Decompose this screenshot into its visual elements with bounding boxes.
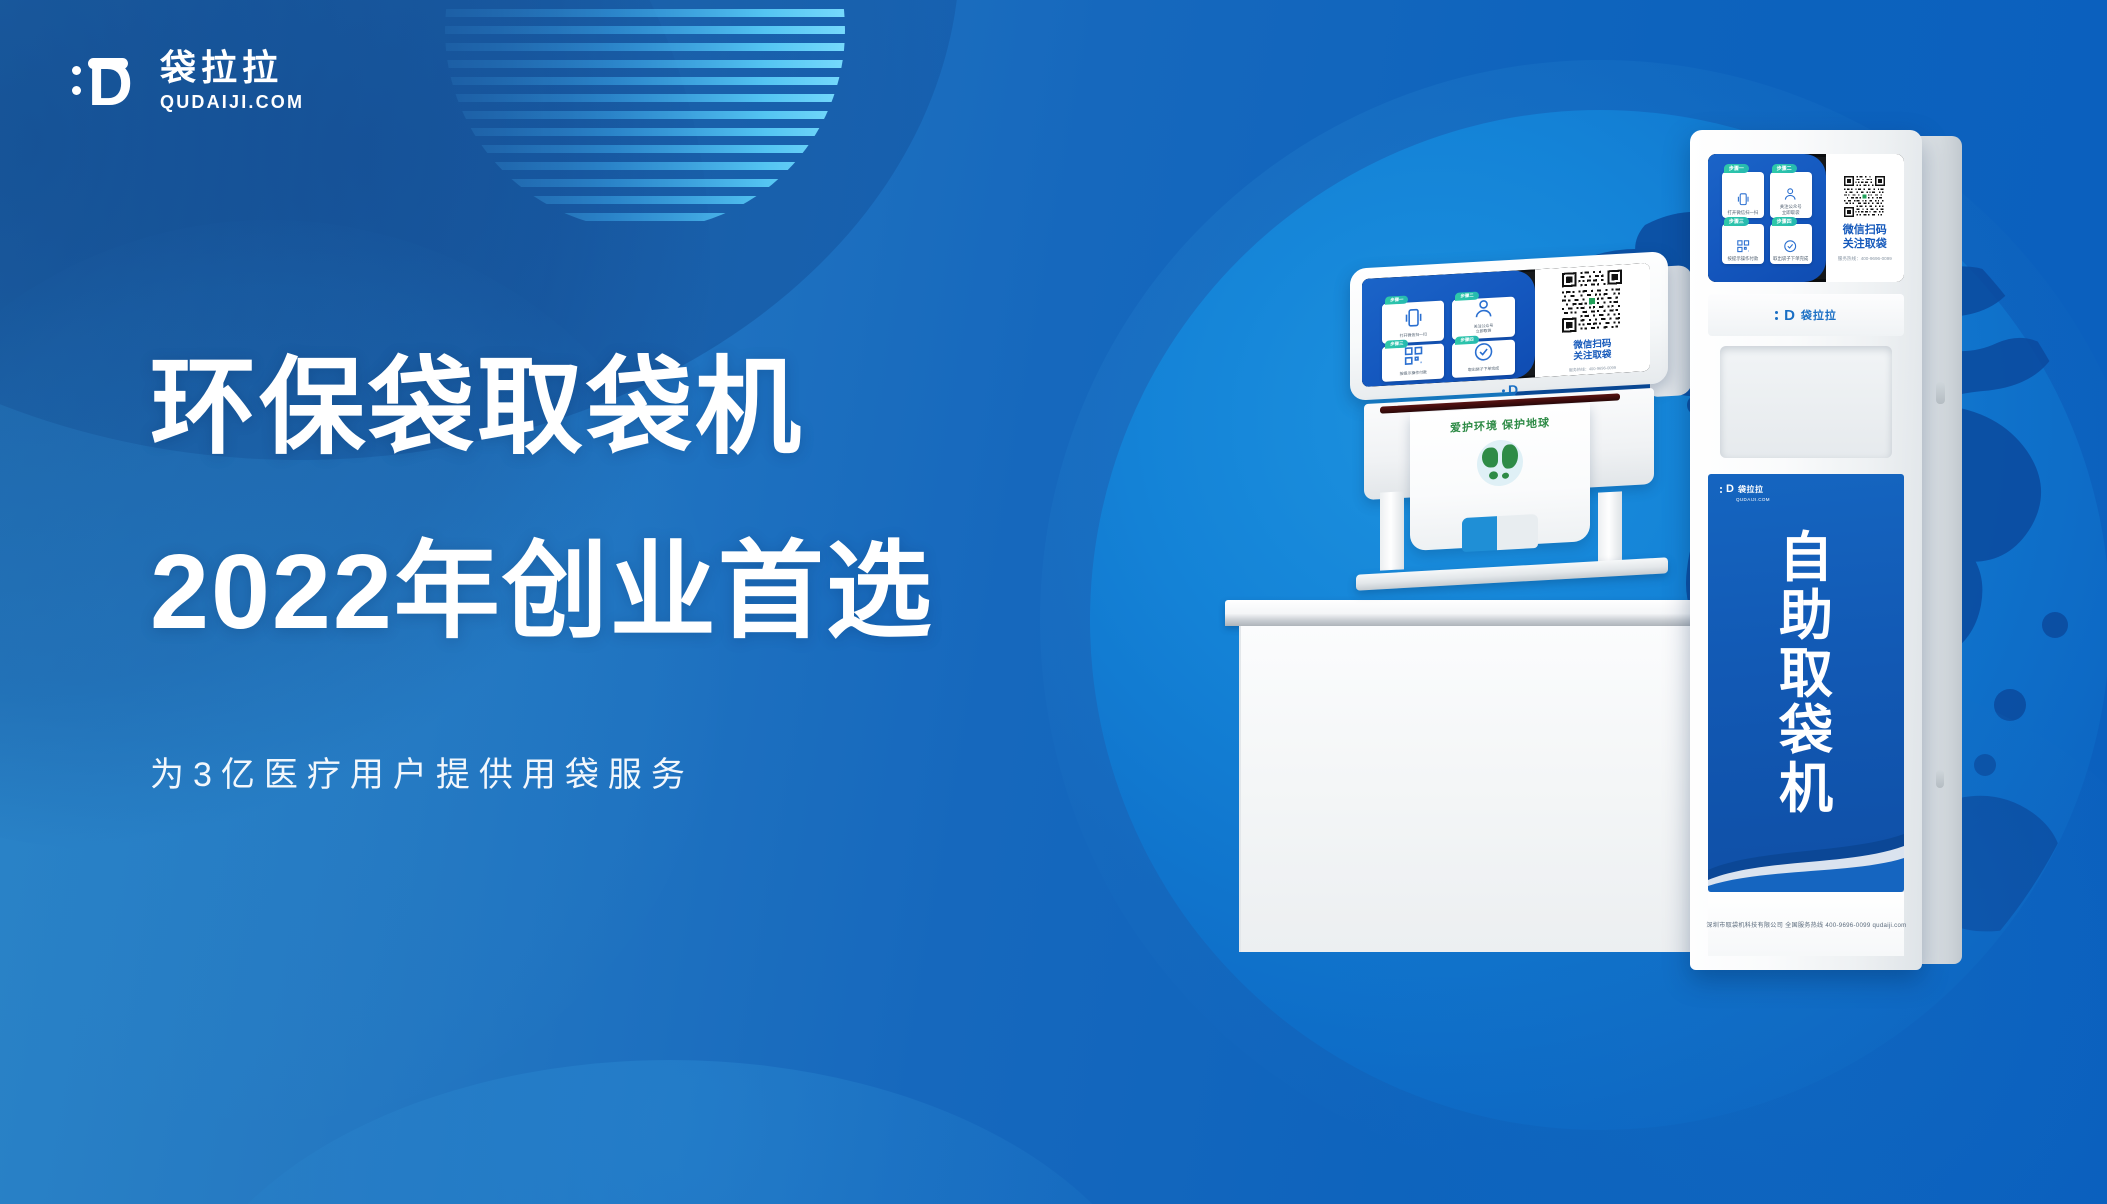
- background-circle-bottom: [170, 1060, 1170, 1204]
- logo-text-block: 袋拉拉 QUDAIJI.COM: [160, 48, 304, 113]
- step-card[interactable]: 步骤二 关注公众号 立即取袋: [1452, 296, 1514, 339]
- step-card[interactable]: 步骤四 取出袋子下单完成: [1452, 339, 1514, 377]
- kiosk-title-char: 袋: [1779, 703, 1833, 761]
- step-badge: 步骤四: [1772, 217, 1797, 226]
- brand-dots-icon: [1775, 311, 1778, 320]
- brand-dots-icon: [1720, 487, 1722, 493]
- wechat-follow-icon: [1473, 298, 1494, 320]
- step-caption: 按提示操作付款: [1728, 256, 1759, 262]
- step-card[interactable]: 步骤一 打开微信扫一扫: [1722, 172, 1764, 218]
- screen-cta-line2: 关注取袋: [1573, 350, 1611, 363]
- stand-leg-left: [1380, 491, 1404, 570]
- kiosk-screen[interactable]: 步骤一 打开微信扫一扫 步骤二 关注公众号 立即取袋: [1708, 154, 1904, 282]
- step-caption: 关注公众号 立即取袋: [1474, 324, 1493, 335]
- phone-scan-icon: [1403, 306, 1424, 328]
- brand-letter: D: [1726, 484, 1734, 495]
- hero-copy: 环保袋取袋机 2022年创业首选 为3亿医疗用户提供用袋服务: [150, 355, 934, 796]
- step-badge: 步骤一: [1385, 296, 1408, 305]
- kiosk-graphic-panel: D 袋拉拉 QUDAIJI.COM 自 助 取 袋 机: [1708, 474, 1904, 892]
- logo-name-en: QUDAIJI.COM: [160, 91, 304, 113]
- kiosk-panel-logo: D 袋拉拉 QUDAIJI.COM: [1720, 484, 1763, 495]
- logo-mark-icon: D: [72, 50, 138, 112]
- brand-name-cn: 袋拉拉: [1801, 307, 1837, 323]
- brand-dot: [1502, 389, 1505, 392]
- promo-banner: D 袋拉拉 QUDAIJI.COM 环保袋取袋机 2022年创业首选 为3亿医疗…: [0, 0, 2107, 1204]
- logo-dot-top: [72, 66, 81, 75]
- step-caption: 打开微信扫一扫: [1400, 332, 1427, 338]
- screen-cta: 微信扫码 关注取袋: [1843, 224, 1887, 251]
- kiosk-sensor-upper: [1936, 382, 1945, 404]
- kiosk-title-char: 取: [1779, 646, 1833, 704]
- kiosk-title-char: 自: [1779, 530, 1833, 588]
- step-caption: 按提示操作付款: [1400, 370, 1427, 376]
- service-phone: 服务热线：400-9696-0099: [1838, 256, 1892, 262]
- kiosk-title-char: 机: [1779, 761, 1833, 819]
- kiosk-panel-wave: [1708, 824, 1904, 892]
- brand-letter: D: [1784, 308, 1795, 323]
- brand-logo[interactable]: D 袋拉拉 QUDAIJI.COM: [72, 48, 304, 113]
- step-card[interactable]: 步骤二 关注公众号 立即取袋: [1770, 172, 1812, 218]
- screen-cta-line1: 微信扫码: [1843, 224, 1887, 236]
- qr-pay-icon: [1403, 344, 1424, 366]
- step-card[interactable]: 步骤一 打开微信扫一扫: [1382, 300, 1444, 343]
- desktop-dispenser-unit[interactable]: 步骤一 打开微信扫一扫 步骤二 关注公众号 立即取袋: [1350, 260, 1680, 620]
- kiosk-sensor-lower: [1936, 770, 1944, 788]
- bag-label: 爱护环境 保护地球: [1450, 414, 1550, 436]
- step-caption: 取出袋子下单完成: [1773, 256, 1808, 262]
- screen-steps-panel: 步骤一 打开微信扫一扫 步骤二 关注公众号 立即取袋: [1362, 269, 1535, 387]
- headline-line-1: 环保袋取袋机: [150, 355, 934, 461]
- step-badge: 步骤四: [1455, 336, 1478, 345]
- screen-qr-panel: 微信扫码 关注取袋 服务热线：400-9696-0099: [1535, 263, 1650, 377]
- bag-handle: [1462, 514, 1538, 552]
- product-scene: 步骤一 打开微信扫一扫 步骤二 关注公众号 立即取袋: [1150, 110, 2090, 1110]
- logo-name-cn: 袋拉拉: [160, 48, 304, 88]
- logo-dot-bottom: [72, 86, 81, 95]
- screen-cta-line2: 关注取袋: [1843, 238, 1887, 250]
- logo-letter: D: [88, 58, 133, 112]
- step-badge: 步骤二: [1772, 164, 1797, 173]
- step-caption: 关注公众号 立即取袋: [1780, 204, 1802, 215]
- bag-out-icon: [1783, 239, 1797, 253]
- qr-code[interactable]: [1559, 266, 1626, 337]
- step-caption: 打开微信扫一扫: [1728, 210, 1759, 216]
- kiosk-panel-title: 自 助 取 袋 机: [1708, 530, 1904, 819]
- kiosk-footer-text: 深圳市取袋机科技有限公司 全国服务热线 400-9696-0099 qudaij…: [1706, 919, 1906, 928]
- phone-scan-icon: [1736, 192, 1750, 206]
- step-card[interactable]: 步骤三 按提示操作付款: [1722, 224, 1764, 265]
- step-badge: 步骤二: [1455, 292, 1478, 301]
- service-phone: 服务热线：400-9696-0099: [1569, 365, 1616, 374]
- step-caption: 取出袋子下单完成: [1468, 366, 1499, 373]
- brand-name-cn: 袋拉拉: [1738, 484, 1764, 495]
- desktop-unit-screen[interactable]: 步骤一 打开微信扫一扫 步骤二 关注公众号 立即取袋: [1362, 263, 1650, 387]
- screen-ui: 步骤一 打开微信扫一扫 步骤二 关注公众号 立即取袋: [1708, 154, 1904, 282]
- step-card[interactable]: 步骤三 按提示操作付款: [1382, 343, 1444, 381]
- qr-code[interactable]: [1842, 174, 1887, 219]
- kiosk-title-char: 助: [1779, 588, 1833, 646]
- kiosk-brand-bar: D 袋拉拉: [1708, 294, 1904, 336]
- screen-qr-panel: 微信扫码 关注取袋 服务热线：400-9696-0099: [1826, 154, 1904, 282]
- step-badge: 步骤三: [1385, 339, 1408, 348]
- striped-globe-decoration: [430, 0, 860, 230]
- bag-out-icon: [1473, 341, 1494, 363]
- screen-ui: 步骤一 打开微信扫一扫 步骤二 关注公众号 立即取袋: [1362, 263, 1650, 387]
- step-badge: 步骤一: [1724, 164, 1749, 173]
- stand-leg-right: [1598, 491, 1622, 570]
- step-badge: 步骤三: [1724, 217, 1749, 226]
- floor-standing-kiosk[interactable]: 步骤一 打开微信扫一扫 步骤二 关注公众号 立即取袋: [1690, 130, 1970, 970]
- hero-tagline: 为3亿医疗用户提供用袋服务: [150, 747, 934, 796]
- kiosk-dispense-opening: [1720, 346, 1892, 458]
- qr-pay-icon: [1736, 239, 1750, 253]
- earth-icon: [1477, 439, 1523, 488]
- wechat-follow-icon: [1783, 187, 1797, 201]
- headline-line-2: 2022年创业首选: [150, 539, 934, 645]
- screen-cta: 微信扫码 关注取袋: [1573, 338, 1611, 363]
- screen-steps-panel: 步骤一 打开微信扫一扫 步骤二 关注公众号 立即取袋: [1708, 154, 1826, 282]
- step-card[interactable]: 步骤四 取出袋子下单完成: [1770, 224, 1812, 265]
- brand-name-en: QUDAIJI.COM: [1736, 497, 1770, 502]
- kiosk-footer-strip: 深圳市取袋机科技有限公司 全国服务热线 400-9696-0099 qudaij…: [1708, 892, 1904, 956]
- dispensed-bag: 爱护环境 保护地球: [1410, 403, 1590, 551]
